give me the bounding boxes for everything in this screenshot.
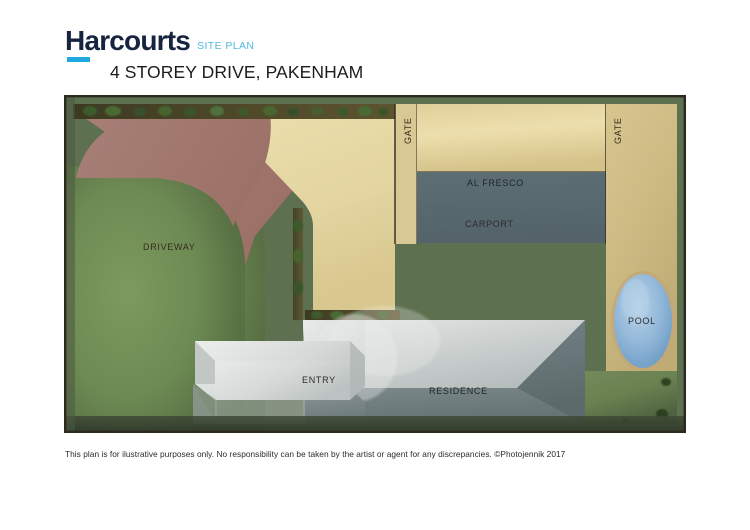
disclaimer-text: This plan is for ilustrative purposes on…: [65, 449, 565, 459]
site-plan-graphic: DRIVEWAY CARPORT GATE GATE AL FRESCO POO…: [64, 95, 686, 433]
left-boundary-strip: [65, 96, 75, 432]
brand-row: Harcourts SITE PLAN: [65, 25, 685, 55]
al-fresco-area: [417, 172, 606, 243]
gate-left-area: [395, 104, 417, 244]
site-plan-page: Harcourts SITE PLAN 4 STOREY DRIVE, PAKE…: [0, 0, 750, 530]
brand-logo-text: Harcourts: [65, 27, 190, 55]
brand-subtitle: SITE PLAN: [197, 41, 254, 55]
garage-roof: [195, 341, 365, 400]
header: Harcourts SITE PLAN 4 STOREY DRIVE, PAKE…: [65, 25, 685, 87]
rear-boundary-strip: [65, 416, 685, 432]
site-plan-svg: [65, 96, 685, 432]
garden-bed-side: [293, 208, 303, 320]
carport-area: [417, 104, 606, 172]
property-address: 4 STOREY DRIVE, PAKENHAM: [110, 62, 363, 83]
garden-bed-top: [73, 104, 395, 119]
brand-accent-underline: [67, 57, 90, 62]
